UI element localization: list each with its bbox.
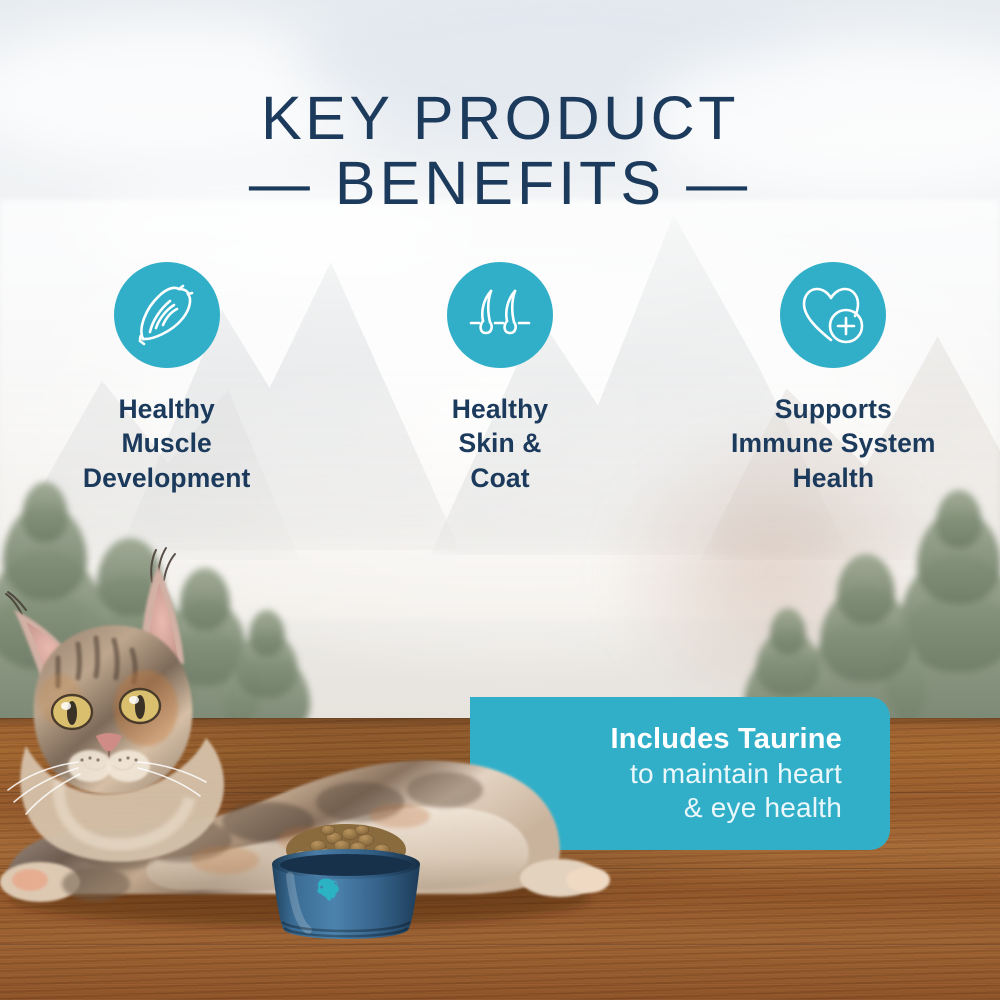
benefit-label: Healthy Skin & Coat	[452, 392, 548, 495]
benefit-item-skin-coat: Healthy Skin & Coat	[333, 262, 666, 495]
hair-follicle-icon	[463, 278, 537, 352]
benefit-icon-circle	[780, 262, 886, 368]
benefit-label: Supports Immune System Health	[731, 392, 936, 495]
benefit-item-muscle: Healthy Muscle Development	[0, 262, 333, 495]
benefit-icon-circle	[114, 262, 220, 368]
product-benefits-graphic: KEY PRODUCT — BENEFITS —	[0, 0, 1000, 1000]
page-title: KEY PRODUCT — BENEFITS —	[0, 86, 1000, 215]
muscle-icon	[130, 278, 204, 352]
heart-plus-icon	[796, 278, 870, 352]
food-bowl	[258, 818, 434, 950]
headline-line-2: — BENEFITS —	[0, 151, 1000, 216]
benefit-item-immune: Supports Immune System Health	[667, 262, 1000, 495]
benefits-row: Healthy Muscle Development	[0, 262, 1000, 495]
headline-line-1: KEY PRODUCT	[261, 84, 739, 152]
benefit-icon-circle	[447, 262, 553, 368]
callout-line-3: & eye health	[684, 791, 842, 825]
benefit-label: Healthy Muscle Development	[83, 392, 251, 495]
